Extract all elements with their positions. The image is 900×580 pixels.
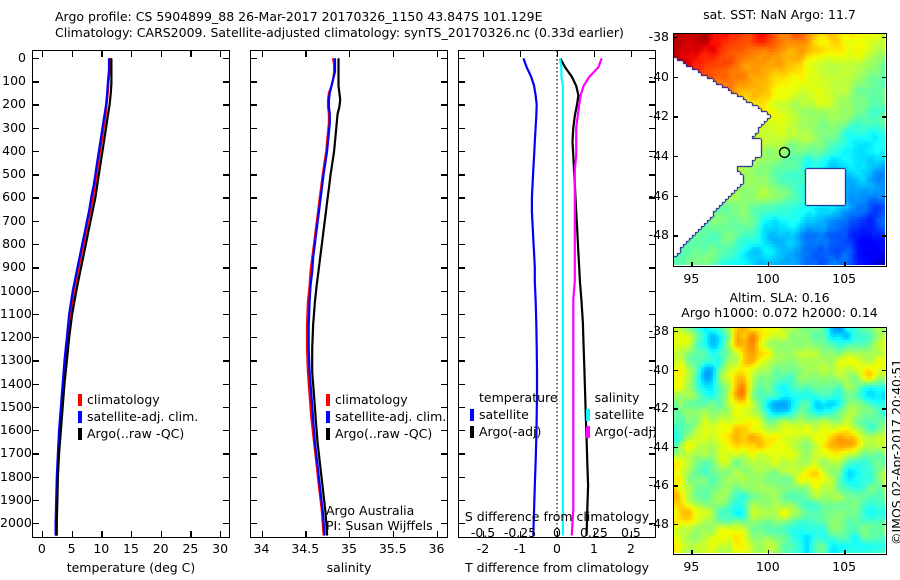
axis-tick-mark: [161, 531, 162, 537]
profile-line: [309, 59, 335, 535]
axis-tick-mark: [649, 523, 655, 524]
legend-swatch-climatology: [78, 394, 82, 406]
axis-tick-mark: [483, 51, 484, 57]
axis-tick-mark: [459, 500, 465, 501]
axis-tick-mark: [673, 37, 678, 38]
axis-tick-label: -42: [638, 108, 669, 123]
axis-tick-mark: [882, 156, 887, 157]
temperature-difference-axis-label: T difference from climatology: [458, 560, 656, 575]
axis-tick-mark: [483, 531, 484, 537]
axis-tick-mark: [223, 314, 229, 315]
legend-item-climatology: climatology: [78, 392, 198, 407]
axis-tick-label: 1200: [0, 329, 26, 344]
temperature-plot-canvas: [33, 51, 229, 537]
temperature-legend: climatology satellite-adj. clim. Argo(..…: [78, 392, 198, 441]
axis-tick-mark: [251, 291, 257, 292]
axis-tick-mark: [882, 524, 887, 525]
axis-tick-mark: [223, 244, 229, 245]
legend-label-argo-raw: Argo(..raw -QC): [87, 426, 184, 441]
axis-tick-mark: [33, 151, 39, 152]
legend-item-sal-argo-adj: Argo(-adj): [586, 424, 657, 439]
axis-tick-label: -38: [638, 29, 669, 44]
page-title-line1: Argo profile: CS 5904899_88 26-Mar-2017 …: [55, 9, 543, 24]
axis-tick-mark: [251, 477, 257, 478]
axis-tick-label: 400: [0, 143, 26, 158]
axis-tick-label: 1900: [0, 492, 26, 507]
axis-tick-mark: [441, 360, 447, 361]
axis-tick-label: 35: [325, 541, 373, 556]
axis-tick-label: 900: [0, 259, 26, 274]
axis-tick-mark: [251, 174, 257, 175]
sla-map-canvas: [674, 328, 885, 553]
axis-tick-mark: [459, 58, 465, 59]
axis-tick-mark: [844, 262, 845, 267]
axis-tick-label: 100: [746, 559, 790, 574]
axis-tick-mark: [251, 104, 257, 105]
axis-tick-mark: [33, 314, 39, 315]
axis-tick-mark: [251, 523, 257, 524]
axis-tick-mark: [33, 197, 39, 198]
axis-tick-mark: [393, 531, 394, 537]
axis-tick-mark: [673, 331, 678, 332]
axis-tick-mark: [441, 523, 447, 524]
axis-tick-mark: [673, 156, 678, 157]
axis-tick-mark: [220, 531, 221, 537]
axis-tick-mark: [557, 531, 558, 537]
axis-tick-mark: [223, 477, 229, 478]
axis-tick-label: 105: [822, 559, 866, 574]
axis-tick-mark: [101, 531, 102, 537]
axis-tick-mark: [223, 430, 229, 431]
axis-tick-mark: [251, 453, 257, 454]
legend-item-satellite-adj-sal: satellite-adj. clim.: [326, 409, 446, 424]
axis-tick-mark: [262, 51, 263, 57]
axis-tick-mark: [42, 531, 43, 537]
axis-tick-mark: [251, 151, 257, 152]
legend-swatch-sal-argo-adj: [586, 426, 590, 438]
axis-tick-mark: [459, 360, 465, 361]
sla-map-title: Altim. SLA: 0.16: [672, 290, 887, 305]
axis-tick-mark: [459, 151, 465, 152]
axis-tick-mark: [594, 51, 595, 57]
axis-tick-mark: [649, 477, 655, 478]
axis-tick-mark: [882, 447, 887, 448]
axis-tick-mark: [33, 174, 39, 175]
axis-tick-mark: [459, 314, 465, 315]
difference-legend: temperature satellite Argo(-adj) salinit…: [470, 390, 657, 439]
axis-tick-mark: [305, 51, 306, 57]
axis-tick-mark: [594, 531, 595, 537]
axis-tick-label: 35.5: [369, 541, 417, 556]
axis-tick-mark: [520, 51, 521, 57]
axis-tick-mark: [649, 197, 655, 198]
axis-tick-mark: [223, 174, 229, 175]
axis-tick-label: 95: [669, 271, 713, 286]
axis-tick-mark: [251, 244, 257, 245]
axis-tick-label: 100: [0, 73, 26, 88]
axis-tick-label: 1100: [0, 306, 26, 321]
axis-tick-mark: [673, 77, 678, 78]
axis-tick-mark: [649, 151, 655, 152]
axis-tick-mark: [33, 430, 39, 431]
axis-tick-label: 34.5: [281, 541, 329, 556]
temperature-axis-label: temperature (deg C): [32, 560, 230, 575]
difference-line: [524, 59, 537, 535]
legend-label-climatology-sal: climatology: [335, 392, 408, 407]
axis-tick-label: 1500: [0, 399, 26, 414]
axis-tick-mark: [673, 524, 678, 525]
axis-tick-mark: [251, 128, 257, 129]
axis-tick-mark: [33, 453, 39, 454]
axis-tick-mark: [33, 477, 39, 478]
axis-tick-mark: [349, 51, 350, 57]
axis-tick-label: -46: [638, 188, 669, 203]
axis-tick-mark: [882, 485, 887, 486]
axis-tick-mark: [882, 235, 887, 236]
axis-tick-mark: [33, 523, 39, 524]
axis-tick-mark: [441, 221, 447, 222]
axis-tick-mark: [223, 523, 229, 524]
axis-tick-mark: [441, 430, 447, 431]
axis-tick-mark: [459, 81, 465, 82]
legend-item-temp-argo-adj: Argo(-adj): [470, 424, 558, 439]
axis-tick-mark: [223, 267, 229, 268]
axis-tick-mark: [441, 197, 447, 198]
axis-tick-mark: [673, 235, 678, 236]
axis-tick-mark: [251, 267, 257, 268]
salinity-axis-label: salinity: [250, 560, 448, 575]
axis-tick-mark: [441, 81, 447, 82]
axis-tick-label: -48: [638, 227, 669, 242]
axis-tick-label: -40: [638, 362, 669, 377]
axis-tick-mark: [520, 531, 521, 537]
axis-tick-label: 600: [0, 189, 26, 204]
axis-tick-mark: [882, 331, 887, 332]
axis-tick-label: -38: [638, 323, 669, 338]
copyright-text: ©IMOS 02-Apr-2017 20:40:51: [889, 359, 900, 545]
axis-tick-mark: [459, 453, 465, 454]
axis-tick-mark: [223, 81, 229, 82]
difference-legend-temperature-column: temperature satellite Argo(-adj): [470, 390, 558, 439]
credit-pi: PI: Susan Wijffels: [326, 518, 433, 533]
axis-tick-mark: [441, 337, 447, 338]
axis-tick-mark: [459, 267, 465, 268]
axis-tick-mark: [649, 128, 655, 129]
legend-label-temp-argo-adj: Argo(-adj): [479, 424, 541, 439]
axis-tick-mark: [691, 262, 692, 267]
axis-tick-mark: [441, 244, 447, 245]
axis-tick-mark: [459, 430, 465, 431]
axis-tick-mark: [223, 453, 229, 454]
axis-tick-mark: [649, 360, 655, 361]
axis-tick-mark: [251, 81, 257, 82]
axis-tick-mark: [649, 314, 655, 315]
axis-tick-mark: [459, 244, 465, 245]
axis-tick-mark: [72, 531, 73, 537]
axis-tick-mark: [441, 291, 447, 292]
difference-line: [560, 59, 563, 535]
axis-tick-label: 1400: [0, 376, 26, 391]
axis-tick-mark: [223, 407, 229, 408]
legend-item-climatology-sal: climatology: [326, 392, 446, 407]
axis-tick-mark: [649, 267, 655, 268]
axis-tick-mark: [223, 337, 229, 338]
axis-tick-mark: [441, 384, 447, 385]
axis-tick-mark: [691, 550, 692, 555]
axis-tick-mark: [844, 550, 845, 555]
axis-tick-mark: [649, 81, 655, 82]
legend-swatch-sal-satellite: [586, 409, 590, 421]
profile-line: [56, 59, 109, 535]
axis-tick-mark: [223, 384, 229, 385]
axis-tick-mark: [190, 531, 191, 537]
axis-tick-mark: [649, 337, 655, 338]
axis-tick-mark: [441, 314, 447, 315]
axis-tick-mark: [459, 384, 465, 385]
axis-tick-mark: [649, 407, 655, 408]
axis-tick-mark: [649, 291, 655, 292]
legend-item-temp-satellite: satellite: [470, 407, 558, 422]
axis-tick-label: 1000: [0, 283, 26, 298]
axis-tick-label: 800: [0, 236, 26, 251]
axis-tick-label: 300: [0, 120, 26, 135]
axis-tick-mark: [882, 116, 887, 117]
argo-float-marker: [780, 148, 790, 158]
axis-tick-mark: [557, 51, 558, 57]
axis-tick-mark: [649, 104, 655, 105]
axis-tick-mark: [101, 51, 102, 57]
axis-tick-label: 2000: [0, 515, 26, 530]
axis-tick-mark: [673, 447, 678, 448]
axis-tick-mark: [220, 51, 221, 57]
page-title-line2: Climatology: CARS2009. Satellite-adjuste…: [55, 25, 624, 40]
axis-tick-mark: [768, 550, 769, 555]
axis-tick-mark: [459, 407, 465, 408]
axis-tick-label: 100: [746, 271, 790, 286]
axis-tick-mark: [33, 291, 39, 292]
axis-tick-mark: [349, 531, 350, 537]
legend-label-sal-argo-adj: Argo(-adj): [595, 424, 657, 439]
axis-tick-mark: [441, 267, 447, 268]
axis-tick-label: 36: [413, 541, 461, 556]
axis-tick-mark: [33, 267, 39, 268]
axis-tick-mark: [882, 370, 887, 371]
axis-tick-mark: [459, 221, 465, 222]
axis-tick-mark: [441, 104, 447, 105]
axis-tick-mark: [649, 430, 655, 431]
axis-tick-label: 34: [238, 541, 286, 556]
difference-plot-canvas: [459, 51, 655, 537]
legend-swatch-temp-satellite: [470, 409, 474, 421]
axis-tick-mark: [223, 221, 229, 222]
axis-tick-mark: [251, 58, 257, 59]
axis-tick-mark: [882, 77, 887, 78]
axis-tick-mark: [459, 104, 465, 105]
legend-label-temp-satellite: satellite: [479, 407, 529, 422]
axis-tick-mark: [882, 408, 887, 409]
axis-tick-mark: [437, 531, 438, 537]
axis-tick-mark: [251, 360, 257, 361]
legend-label-climatology: climatology: [87, 392, 160, 407]
axis-tick-mark: [673, 408, 678, 409]
sst-map-overlay: [674, 34, 885, 265]
axis-tick-mark: [649, 500, 655, 501]
legend-swatch-satellite-adj-sal: [326, 411, 330, 423]
axis-tick-mark: [882, 37, 887, 38]
axis-tick-mark: [437, 51, 438, 57]
axis-tick-mark: [33, 407, 39, 408]
salinity-difference-axis-label: S difference from climatology: [458, 509, 656, 524]
axis-tick-mark: [673, 196, 678, 197]
axis-tick-mark: [649, 244, 655, 245]
legend-label-satellite-adj-sal: satellite-adj. clim.: [335, 409, 446, 424]
axis-tick-mark: [631, 531, 632, 537]
axis-tick-mark: [673, 485, 678, 486]
legend-swatch-argo-raw-sal: [326, 428, 330, 440]
axis-tick-mark: [441, 407, 447, 408]
legend-swatch-climatology-sal: [326, 394, 330, 406]
axis-tick-label: 2: [607, 541, 655, 556]
sla-map-subtitle: Argo h1000: 0.072 h2000: 0.14: [672, 305, 887, 320]
axis-tick-mark: [882, 196, 887, 197]
legend-item-argo-raw: Argo(..raw -QC): [78, 426, 198, 441]
axis-tick-mark: [72, 51, 73, 57]
axis-tick-mark: [393, 51, 394, 57]
legend-label-satellite-adj: satellite-adj. clim.: [87, 409, 198, 424]
axis-tick-label: 200: [0, 96, 26, 111]
axis-tick-mark: [42, 51, 43, 57]
axis-tick-label: 1700: [0, 445, 26, 460]
axis-tick-mark: [459, 523, 465, 524]
axis-tick-mark: [649, 58, 655, 59]
axis-tick-mark: [251, 384, 257, 385]
axis-tick-mark: [251, 430, 257, 431]
axis-tick-mark: [131, 51, 132, 57]
axis-tick-mark: [631, 51, 632, 57]
axis-tick-mark: [223, 291, 229, 292]
axis-tick-mark: [768, 262, 769, 267]
axis-tick-mark: [33, 104, 39, 105]
salinity-legend: climatology satellite-adj. clim. Argo(..…: [326, 392, 446, 441]
axis-tick-mark: [33, 128, 39, 129]
axis-tick-mark: [441, 128, 447, 129]
axis-tick-mark: [33, 384, 39, 385]
axis-tick-mark: [223, 197, 229, 198]
axis-tick-label: 1600: [0, 422, 26, 437]
axis-tick-mark: [459, 128, 465, 129]
axis-tick-mark: [131, 531, 132, 537]
axis-tick-label: 105: [822, 271, 866, 286]
axis-tick-mark: [33, 360, 39, 361]
axis-tick-mark: [33, 337, 39, 338]
axis-tick-mark: [673, 370, 678, 371]
axis-tick-mark: [251, 337, 257, 338]
salinity-plot-canvas: [251, 51, 447, 537]
legend-swatch-satellite-adj: [78, 411, 82, 423]
axis-tick-mark: [33, 244, 39, 245]
axis-tick-mark: [459, 291, 465, 292]
axis-tick-mark: [223, 58, 229, 59]
axis-tick-mark: [305, 531, 306, 537]
legend-item-satellite-adj: satellite-adj. clim.: [78, 409, 198, 424]
axis-tick-mark: [673, 116, 678, 117]
axis-tick-mark: [223, 151, 229, 152]
axis-tick-mark: [441, 477, 447, 478]
credit-org: Argo Australia: [326, 503, 414, 518]
axis-tick-mark: [161, 51, 162, 57]
axis-tick-mark: [251, 221, 257, 222]
axis-tick-mark: [223, 128, 229, 129]
axis-tick-mark: [251, 197, 257, 198]
legend-item-argo-raw-sal: Argo(..raw -QC): [326, 426, 446, 441]
axis-tick-mark: [459, 174, 465, 175]
axis-tick-mark: [190, 51, 191, 57]
axis-tick-label: -46: [638, 477, 669, 492]
axis-tick-label: 95: [669, 559, 713, 574]
axis-tick-label: 1800: [0, 469, 26, 484]
axis-tick-mark: [441, 151, 447, 152]
sst-map-title: sat. SST: NaN Argo: 11.7: [672, 7, 887, 22]
axis-tick-mark: [33, 500, 39, 501]
axis-tick-mark: [33, 81, 39, 82]
legend-header-temperature: temperature: [470, 390, 558, 405]
axis-tick-mark: [459, 477, 465, 478]
axis-tick-mark: [649, 384, 655, 385]
axis-tick-mark: [223, 500, 229, 501]
axis-tick-mark: [223, 360, 229, 361]
axis-tick-mark: [33, 58, 39, 59]
axis-tick-mark: [441, 453, 447, 454]
axis-tick-mark: [223, 104, 229, 105]
axis-tick-mark: [649, 221, 655, 222]
legend-swatch-temp-argo-adj: [470, 426, 474, 438]
axis-tick-mark: [441, 58, 447, 59]
axis-tick-mark: [459, 337, 465, 338]
axis-tick-label: 0: [0, 50, 26, 65]
axis-tick-label: -44: [638, 439, 669, 454]
legend-swatch-argo-raw: [78, 428, 82, 440]
axis-tick-mark: [441, 174, 447, 175]
axis-tick-label: 500: [0, 166, 26, 181]
axis-tick-mark: [262, 531, 263, 537]
axis-tick-mark: [33, 221, 39, 222]
axis-tick-mark: [441, 500, 447, 501]
axis-tick-mark: [251, 407, 257, 408]
axis-tick-mark: [649, 174, 655, 175]
axis-tick-mark: [251, 314, 257, 315]
legend-label-sal-satellite: satellite: [595, 407, 645, 422]
legend-label-argo-raw-sal: Argo(..raw -QC): [335, 426, 432, 441]
axis-tick-label: 1300: [0, 352, 26, 367]
axis-tick-mark: [649, 453, 655, 454]
axis-tick-label: 700: [0, 213, 26, 228]
axis-tick-mark: [459, 197, 465, 198]
axis-tick-mark: [251, 500, 257, 501]
